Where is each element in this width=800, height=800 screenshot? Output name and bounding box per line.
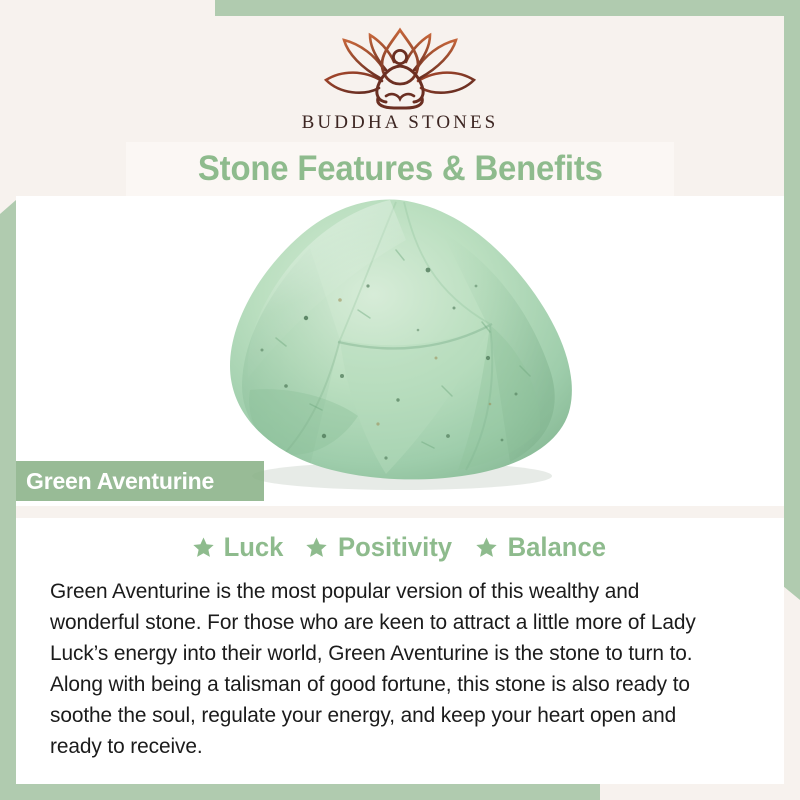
- title-banner: Stone Features & Benefits: [126, 142, 674, 196]
- stone-name-label: Green Aventurine: [16, 461, 264, 501]
- benefit-item-luck: Luck: [192, 532, 285, 563]
- photo-divider-strip: [16, 506, 784, 518]
- description-text: Green Aventurine is the most popular ver…: [50, 576, 729, 762]
- border-accent-bottom-left-horizontal: [0, 784, 600, 800]
- description-section: Luck Positivity Balance Green Aventurine…: [16, 518, 784, 784]
- brand-logo: BUDDHA STONES: [16, 16, 784, 144]
- green-aventurine-stone-illustration: [190, 196, 610, 490]
- star-icon: [305, 536, 328, 559]
- benefit-label: Balance: [507, 532, 605, 563]
- benefits-row: Luck Positivity Balance: [36, 524, 764, 570]
- brand-name: BUDDHA STONES: [302, 112, 499, 134]
- infographic-page: BUDDHA STONES Stone Features & Benefits: [0, 0, 800, 800]
- page-title: Stone Features & Benefits: [198, 149, 603, 189]
- product-image: Green Aventurine: [16, 196, 784, 506]
- benefit-label: Luck: [223, 532, 283, 563]
- benefit-item-positivity: Positivity: [305, 532, 455, 563]
- stone-name-text: Green Aventurine: [26, 468, 214, 495]
- border-accent-top-right-horizontal: [215, 0, 800, 16]
- content-card: BUDDHA STONES Stone Features & Benefits: [16, 16, 784, 784]
- star-icon: [192, 536, 215, 559]
- border-accent-top-right-vertical: [783, 0, 800, 600]
- lotus-meditation-icon: [316, 26, 484, 110]
- benefit-label: Positivity: [338, 532, 452, 563]
- star-icon: [475, 536, 498, 559]
- benefit-item-balance: Balance: [475, 532, 609, 563]
- border-accent-bottom-left-vertical: [0, 200, 16, 800]
